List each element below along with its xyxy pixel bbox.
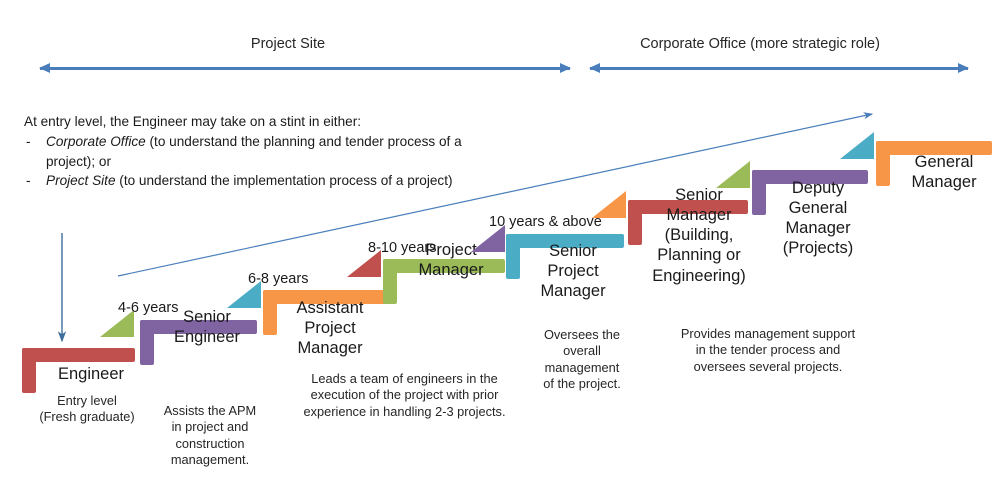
bullet-dash: - <box>26 132 31 151</box>
role-description-engineer: Entry level (Fresh graduate) <box>22 393 152 426</box>
arrow-shaft <box>40 67 570 70</box>
bullet-text: (to understand the implementation proces… <box>116 173 453 188</box>
career-progression-diagram: Project SiteCorporate Office (more strat… <box>0 0 1007 493</box>
bracket-leg <box>22 348 36 393</box>
axis-double-arrow-1 <box>590 63 968 73</box>
role-description-senior-engineer: Assists the APM in project and construct… <box>150 403 270 469</box>
arrow-head-right <box>560 63 571 73</box>
intro-lead: At entry level, the Engineer may take on… <box>24 112 464 131</box>
bracket-leg <box>876 141 890 186</box>
arrow-head-left <box>39 63 50 73</box>
riser-triangle-icon <box>840 132 874 159</box>
bracket-leg <box>383 259 397 304</box>
role-description-senior-project-manager: Oversees the overall management of the p… <box>522 327 642 393</box>
role-description-assistant-project-manager: Leads a team of engineers in the executi… <box>292 371 517 420</box>
role-title-senior-project-manager: Senior Project Manager <box>518 241 628 301</box>
role-title-engineer: Engineer <box>36 364 146 384</box>
intro-bullet-1: -Project Site (to understand the impleme… <box>24 171 464 190</box>
arrow-head-right <box>958 63 969 73</box>
axis-label-1: Corporate Office (more strategic role) <box>600 36 920 52</box>
arrow-head-left <box>589 63 600 73</box>
years-label-assistant-project-manager: 6-8 years <box>248 271 308 287</box>
role-title-senior-manager: Senior Manager (Building, Planning or En… <box>639 185 759 286</box>
bracket-arm <box>22 348 135 362</box>
axis-double-arrow-0 <box>40 63 570 73</box>
role-title-general-manager: General Manager <box>889 152 999 192</box>
role-title-assistant-project-manager: Assistant Project Manager <box>275 298 385 358</box>
arrow-shaft <box>590 67 968 70</box>
role-title-deputy-general-manager: Deputy General Manager (Projects) <box>763 178 873 259</box>
bullet-dash: - <box>26 171 31 190</box>
years-label-senior-project-manager: 10 years & above <box>489 214 602 230</box>
bullet-emphasis: Project Site <box>46 173 116 188</box>
riser-triangle-icon <box>592 191 626 218</box>
role-description-senior-manager: Provides management support in the tende… <box>663 326 873 375</box>
intro-bullet-list: -Corporate Office (to understand the pla… <box>24 132 464 190</box>
intro-bullet-0: -Corporate Office (to understand the pla… <box>24 132 464 171</box>
axis-label-0: Project Site <box>148 36 428 52</box>
bullet-emphasis: Corporate Office <box>46 134 146 149</box>
intro-note: At entry level, the Engineer may take on… <box>24 112 464 190</box>
riser-triangle-icon <box>716 161 750 188</box>
role-title-senior-engineer: Senior Engineer <box>152 307 262 347</box>
